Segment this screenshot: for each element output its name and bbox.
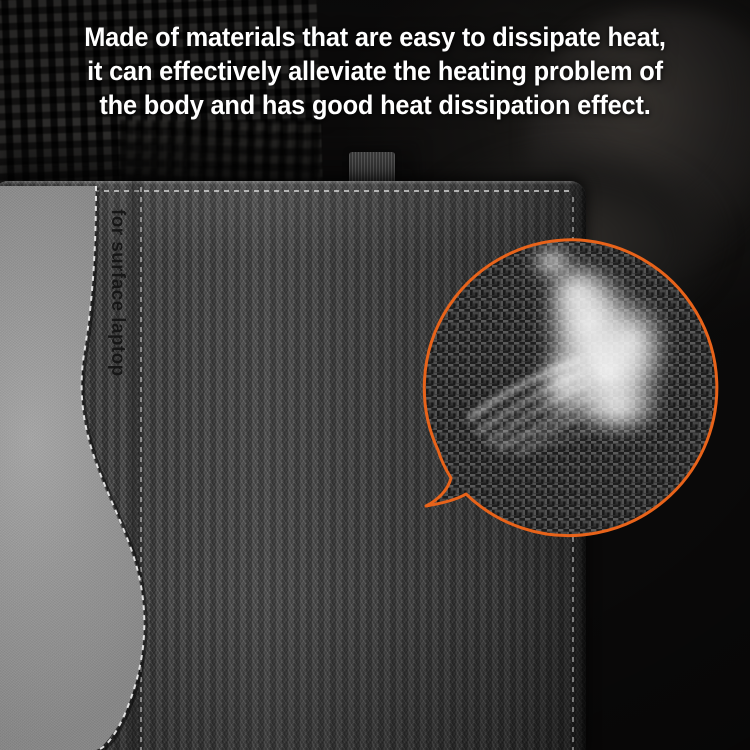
suede-pocket-panel	[0, 186, 152, 750]
product-marketing-image: Made of materials that are easy to dissi…	[0, 0, 750, 750]
magnifier-callout	[404, 232, 748, 544]
suede-grain	[0, 186, 152, 750]
closure-strap	[349, 152, 395, 184]
